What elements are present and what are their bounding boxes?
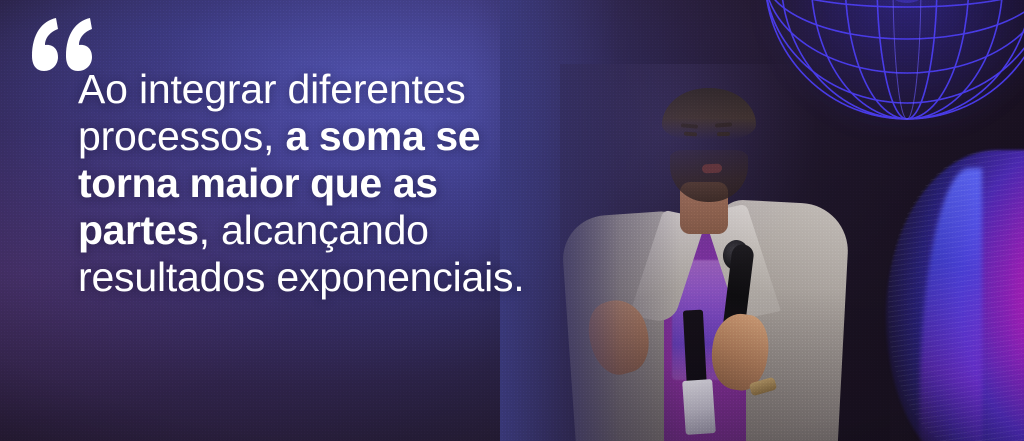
quote-line-5: resultados exponenciais. [78, 254, 608, 301]
quote-segment: , alcançando [199, 207, 429, 253]
quote-line-4: partes, alcançando [78, 207, 608, 254]
quote-segment: processos, [78, 113, 285, 159]
quote-segment: resultados exponenciais. [78, 254, 524, 300]
quote-emphasis: torna maior que as [78, 160, 438, 206]
quote-slide: Ao integrar diferentesprocessos, a soma … [0, 0, 1024, 441]
speaker-badge [682, 379, 716, 435]
quote-segment: Ao integrar diferentes [78, 66, 466, 112]
quote-emphasis: partes [78, 207, 199, 253]
quote-line-2: processos, a soma se [78, 113, 608, 160]
quote-line-1: Ao integrar diferentes [78, 66, 608, 113]
speaker-eye-left [684, 132, 697, 137]
speaker-photo [560, 64, 890, 441]
quote-text: Ao integrar diferentesprocessos, a soma … [78, 66, 608, 301]
speaker-mouth [702, 163, 722, 173]
quote-emphasis: a soma se [285, 113, 480, 159]
quote-line-3: torna maior que as [78, 160, 608, 207]
speaker-eye-right [717, 132, 730, 136]
speaker-hair [662, 88, 756, 140]
